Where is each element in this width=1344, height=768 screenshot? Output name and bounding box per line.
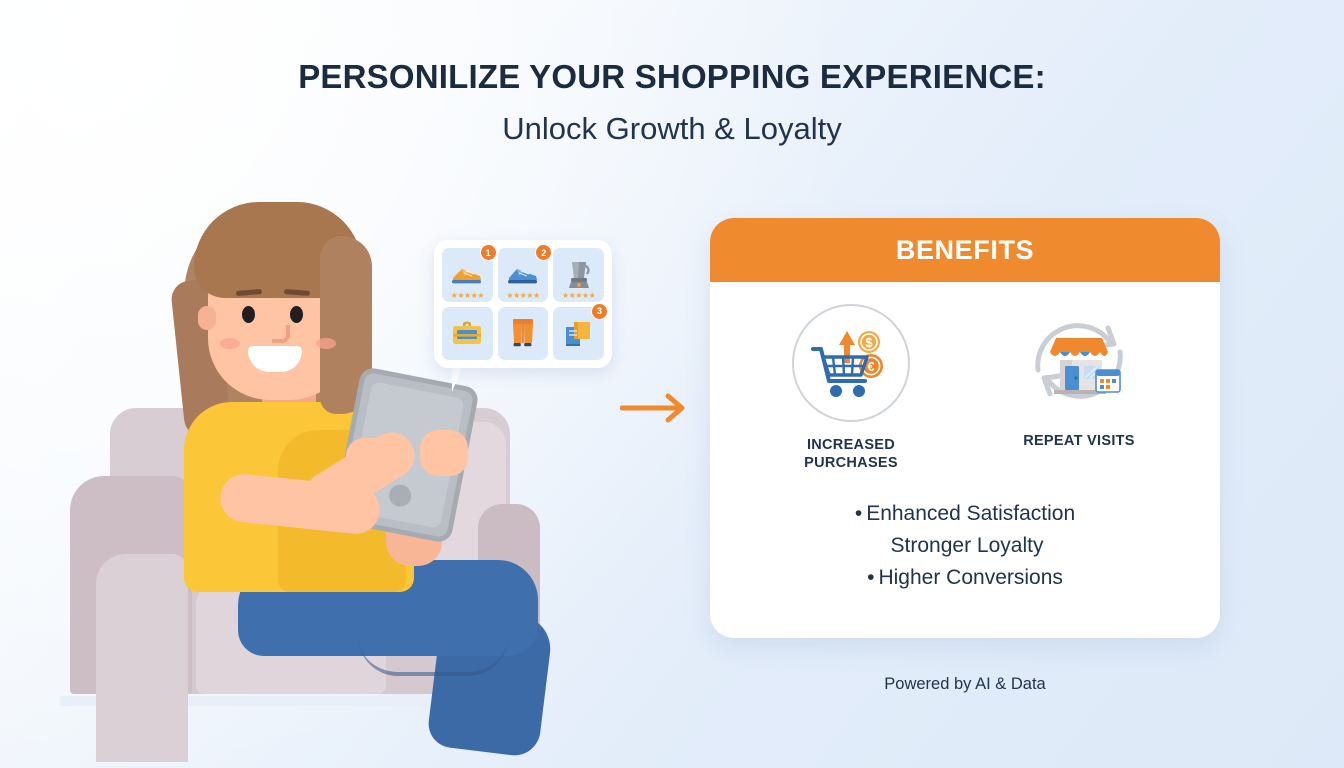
list-item: •Enhanced Satisfaction (710, 498, 1220, 530)
benefits-title: BENEFITS (896, 235, 1034, 266)
product-rating-stars: ★★★★★ (442, 291, 493, 300)
bullet-marker: • (867, 566, 874, 589)
nose (272, 325, 290, 343)
bullet-marker: • (855, 502, 862, 525)
product-grid: ★★★★★ 1 ★★★★★ 2 (442, 248, 604, 360)
benefit-icon-row: $ € INCREASED PURCHASE (710, 282, 1220, 472)
product-rating-stars: ★★★★★ (498, 291, 549, 300)
blue-sneaker-icon (506, 264, 540, 286)
product-badge: 1 (480, 244, 497, 261)
list-item-label: Higher Conversions (878, 566, 1062, 589)
list-item-label: Enhanced Satisfaction (866, 502, 1075, 525)
benefits-card: BENEFITS $ € (710, 218, 1220, 638)
repeat-visits-circle (1022, 304, 1136, 418)
list-item-label: Stronger Loyalty (891, 534, 1044, 557)
cheek-left (220, 338, 240, 349)
product-card-blue-sneaker[interactable]: ★★★★★ 2 (498, 248, 549, 302)
product-card-orange-sneaker[interactable]: ★★★★★ 1 (442, 248, 493, 302)
page-title: PERSONILIZE YOUR SHOPPING EXPERIENCE: (0, 58, 1344, 97)
list-item: Stronger Loyalty (710, 530, 1220, 562)
product-rating-stars: ★★★★★ (553, 291, 604, 300)
benefits-card-body: $ € INCREASED PURCHASE (710, 282, 1220, 638)
store-repeat-visits-icon (1024, 308, 1134, 414)
increased-purchases-label: INCREASED PURCHASES (804, 436, 898, 472)
briefcase-icon (451, 320, 483, 346)
increased-purchases-circle: $ € (792, 304, 910, 422)
product-recommendation-bubble: ★★★★★ 1 ★★★★★ 2 (434, 240, 612, 368)
books-icon (564, 319, 594, 347)
benefits-bullet-list: •Enhanced Satisfaction Stronger Loyalty … (710, 498, 1220, 594)
hand-left (346, 438, 400, 482)
repeat-visits-label: REPEAT VISITS (1023, 432, 1135, 450)
eye-right (290, 306, 303, 323)
infographic-canvas: PERSONILIZE YOUR SHOPPING EXPERIENCE: Un… (0, 0, 1344, 768)
blender-icon (566, 260, 592, 290)
product-card-blender[interactable]: ★★★★★ (553, 248, 604, 302)
svg-text:$: $ (865, 335, 873, 350)
benefit-increased-purchases: $ € INCREASED PURCHASE (776, 304, 926, 472)
knee-crease (358, 630, 508, 676)
product-card-briefcase[interactable] (442, 307, 493, 361)
ear (198, 306, 216, 330)
headline-block: PERSONILIZE YOUR SHOPPING EXPERIENCE: Un… (0, 58, 1344, 147)
product-badge: 2 (535, 244, 552, 261)
product-card-books[interactable]: 3 (553, 307, 604, 361)
flow-arrow (620, 390, 692, 426)
icon-label-line-2: PURCHASES (804, 455, 898, 471)
orange-right-arrow-icon (620, 390, 692, 426)
product-badge: 3 (591, 303, 608, 320)
product-card-pants[interactable] (498, 307, 549, 361)
hand-right (420, 430, 468, 476)
pants-icon (511, 318, 535, 348)
list-item: •Higher Conversions (710, 562, 1220, 594)
cheek-right (316, 338, 336, 349)
icon-label-line-1: INCREASED (807, 437, 895, 453)
icon-label-line-1: REPEAT VISITS (1023, 433, 1135, 449)
benefit-repeat-visits: REPEAT VISITS (1004, 304, 1154, 472)
shopping-cart-growth-icon: $ € (809, 323, 893, 403)
page-subtitle: Unlock Growth & Loyalty (0, 110, 1344, 147)
powered-by-label: Powered by AI & Data (710, 675, 1220, 694)
orange-sneaker-icon (450, 264, 484, 286)
benefits-card-header: BENEFITS (710, 218, 1220, 282)
eye-left (242, 306, 255, 323)
svg-text:€: € (867, 359, 874, 374)
